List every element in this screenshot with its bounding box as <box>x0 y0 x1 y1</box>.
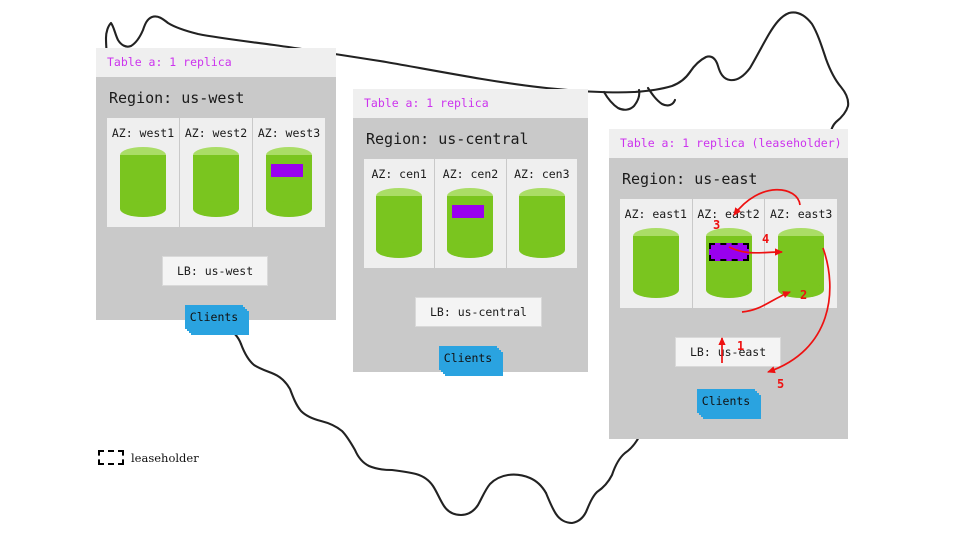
az-label: AZ: cen2 <box>435 167 505 181</box>
legend-label: leaseholder <box>131 451 199 465</box>
arrow-label-5: 5 <box>777 377 784 391</box>
node-cylinder-west1[interactable] <box>120 147 166 217</box>
az-cell-west1[interactable]: AZ: west1 <box>107 118 180 227</box>
arrow-label-1: 1 <box>737 339 744 353</box>
replica-marker-cen2[interactable] <box>452 205 484 218</box>
az-label: AZ: east2 <box>693 207 765 221</box>
arrow-label-3: 3 <box>713 218 720 232</box>
panel-header-us-west: Table a: 1 replica <box>96 48 336 77</box>
az-strip-us-west: AZ: west1 AZ: west2 AZ <box>107 118 325 227</box>
az-label: AZ: cen3 <box>507 167 577 181</box>
node-cylinder-west3[interactable] <box>266 147 312 217</box>
load-balancer-us-west[interactable]: LB: us-west <box>162 256 268 286</box>
load-balancer-us-central[interactable]: LB: us-central <box>415 297 542 327</box>
leaseholder-replica-marker-east2[interactable] <box>709 243 749 261</box>
legend-leaseholder: leaseholder <box>98 450 199 465</box>
region-title-us-central: Region: us-central <box>353 118 588 159</box>
az-label: AZ: west1 <box>107 126 179 140</box>
replica-marker-west3[interactable] <box>271 164 303 177</box>
az-cell-east2[interactable]: AZ: east2 <box>693 199 766 308</box>
panel-header-us-central: Table a: 1 replica <box>353 89 588 118</box>
node-cylinder-cen2[interactable] <box>447 188 493 258</box>
az-cell-cen2[interactable]: AZ: cen2 <box>435 159 506 268</box>
node-cylinder-cen1[interactable] <box>376 188 422 258</box>
clients-us-west[interactable]: Clients <box>185 305 243 329</box>
region-title-us-west: Region: us-west <box>96 77 336 118</box>
clients-card-front[interactable]: Clients <box>439 346 497 370</box>
arrow-label-2: 2 <box>800 288 807 302</box>
az-label: AZ: west2 <box>180 126 252 140</box>
diagram-canvas: Table a: 1 replica Region: us-west AZ: w… <box>0 0 960 540</box>
clients-us-east[interactable]: Clients <box>697 389 755 413</box>
az-cell-west3[interactable]: AZ: west3 <box>253 118 325 227</box>
az-label: AZ: cen1 <box>364 167 434 181</box>
az-cell-cen1[interactable]: AZ: cen1 <box>364 159 435 268</box>
node-cylinder-east2[interactable] <box>706 228 752 298</box>
clients-card-front[interactable]: Clients <box>185 305 243 329</box>
az-label: AZ: east1 <box>620 207 692 221</box>
clients-label: Clients <box>444 351 492 365</box>
region-panel-us-central: Table a: 1 replica Region: us-central AZ… <box>353 89 588 372</box>
clients-card-front[interactable]: Clients <box>697 389 755 413</box>
dashed-rect-icon <box>98 450 124 465</box>
clients-label: Clients <box>702 394 750 408</box>
region-panel-us-west: Table a: 1 replica Region: us-west AZ: w… <box>96 48 336 320</box>
region-title-us-east: Region: us-east <box>609 158 848 199</box>
az-label: AZ: west3 <box>253 126 325 140</box>
az-cell-cen3[interactable]: AZ: cen3 <box>507 159 577 268</box>
panel-header-us-east: Table a: 1 replica (leaseholder) <box>609 129 848 158</box>
clients-us-central[interactable]: Clients <box>439 346 497 370</box>
node-cylinder-east1[interactable] <box>633 228 679 298</box>
node-cylinder-cen3[interactable] <box>519 188 565 258</box>
load-balancer-us-east[interactable]: LB: us-east <box>675 337 781 367</box>
az-cell-west2[interactable]: AZ: west2 <box>180 118 253 227</box>
az-strip-us-central: AZ: cen1 AZ: cen2 <box>364 159 577 268</box>
az-label: AZ: east3 <box>765 207 837 221</box>
arrow-label-4: 4 <box>762 232 769 246</box>
az-cell-east1[interactable]: AZ: east1 <box>620 199 693 308</box>
clients-label: Clients <box>190 310 238 324</box>
node-cylinder-west2[interactable] <box>193 147 239 217</box>
region-panel-us-east: Table a: 1 replica (leaseholder) Region:… <box>609 129 848 439</box>
